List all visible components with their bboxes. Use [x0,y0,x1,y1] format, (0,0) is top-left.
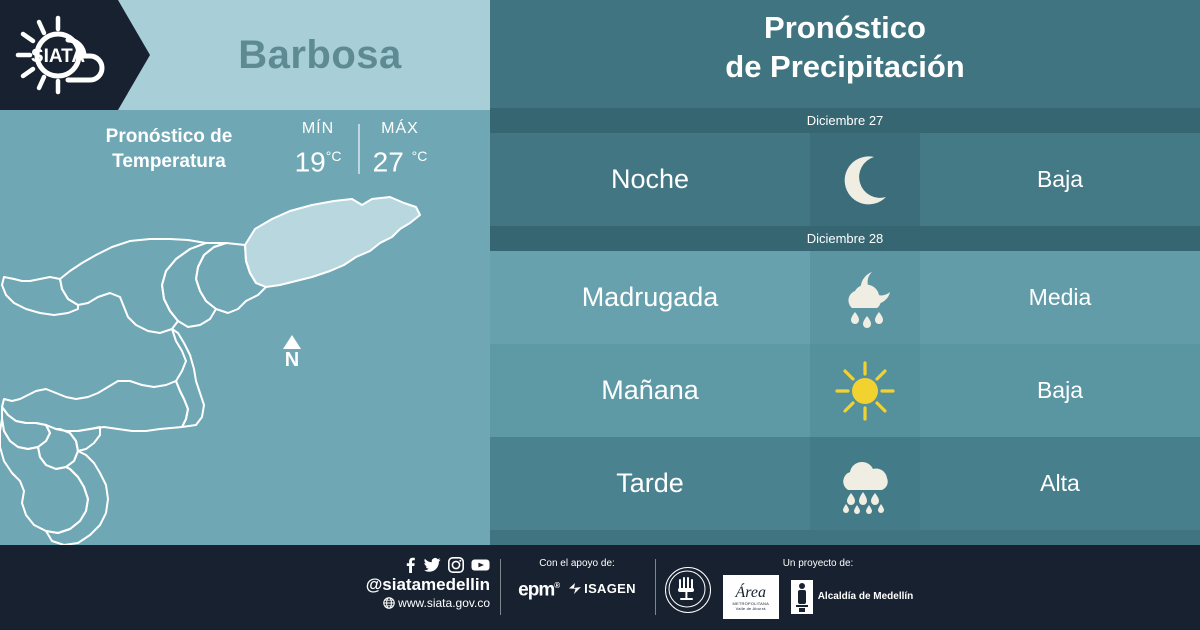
north-arrow: N [278,335,306,370]
social-handle[interactable]: @siatamedellin [330,575,490,595]
city-name: Barbosa [150,0,490,110]
seal-mark-icon [666,568,708,610]
map-region-northwest [2,277,78,315]
temperature-max-unit: °C [412,148,428,164]
project-block: Un proyecto de: Área METROPOLITANA Valle… [718,557,918,619]
siata-logo-text: SIATA [31,46,85,67]
temperature-max: MÁX 27 °C [360,118,440,178]
globe-icon [383,597,395,609]
moon-rain-cloud-icon [832,268,898,328]
temperature-values: MÍN 19°C MÁX 27 °C [278,118,440,178]
alcaldia-logo: Alcaldía de Medellín [791,580,914,614]
area-metropolitana-logo: Área METROPOLITANA Valle de Aburrá [723,575,779,619]
temperature-max-value: 27 °C [360,140,440,178]
sun-cloud-icon: SIATA [10,10,115,100]
support-caption: Con el apoyo de: [512,557,642,571]
moon-icon [834,149,896,211]
map-region-la-estrella [0,419,88,533]
forecast-level: Alta [920,437,1200,530]
alcaldia-mark-icon [791,580,813,614]
forecast-icon-cell [810,437,920,530]
map-region-bello [60,239,206,333]
alcaldia-label: Alcaldía de Medellín [818,591,914,603]
heavy-rain-cloud-icon [832,452,898,516]
project-caption: Un proyecto de: [718,557,918,571]
temperature-min-label: MÍN [278,118,358,140]
epm-logo: epm® [518,576,559,600]
area-logo-sub2: Valle de Aburrá [736,606,766,611]
date-header-2: Diciembre 28 [490,226,1200,251]
temperature-max-label: MÁX [360,118,440,140]
forecast-level: Baja [920,344,1200,437]
north-arrow-label: N [278,350,306,370]
social-block: @siatamedellin www.siata.gov.co [330,557,490,611]
isagen-label: ISAGEN [584,581,636,596]
map-region-caldas [46,451,108,545]
forecast-period: Noche [490,133,810,226]
temperature-min-unit: °C [326,148,342,164]
forecast-row: Tarde Alta [490,437,1200,530]
temperature-title: Pronóstico de Temperatura [64,124,274,174]
date-header-1: Diciembre 27 [490,108,1200,133]
youtube-icon[interactable] [471,557,490,573]
precipitation-title-line1: Pronóstico [490,8,1200,47]
forecast-period: Mañana [490,344,810,437]
instagram-icon[interactable] [448,557,464,573]
map-region-barbosa [245,197,420,287]
left-panel: SIATA Barbosa Pronóstico de Temperatura … [0,0,490,545]
forecast-level: Media [920,251,1200,344]
project-logos: Área METROPOLITANA Valle de Aburrá [718,575,918,619]
facebook-icon[interactable] [403,557,417,573]
isagen-logo: ISAGEN [568,581,636,596]
alcaldia-figure-icon [791,580,813,614]
forecast-row: Madrugada Media [490,251,1200,344]
support-logos: epm® ISAGEN [512,576,642,600]
support-block: Con el apoyo de: epm® ISAGEN [512,557,642,600]
website-line[interactable]: www.siata.gov.co [330,595,490,611]
map-svg [0,185,490,545]
footer: @siatamedellin www.siata.gov.co Con el a… [0,545,1200,630]
precipitation-title-line2: de Precipitación [490,47,1200,86]
temperature-title-line2: Temperatura [64,149,274,174]
temperature-min-value: 19°C [278,140,358,178]
precipitation-title: Pronóstico de Precipitación [490,8,1200,86]
map-region-sabaneta [56,427,100,451]
forecast-icon-cell [810,344,920,437]
forecast-icon-cell [810,133,920,226]
siata-logo-banner: SIATA [0,0,150,110]
forecast-icon-cell [810,251,920,344]
weather-forecast-poster: SIATA Barbosa Pronóstico de Temperatura … [0,0,1200,630]
sun-icon [833,359,897,423]
forecast-period: Madrugada [490,251,810,344]
forecast-level: Baja [920,133,1200,226]
area-logo-script: Área [735,584,766,601]
temperature-title-line1: Pronóstico de [64,124,274,149]
footer-divider-2 [655,559,656,615]
left-header: SIATA Barbosa [0,0,490,110]
north-arrow-triangle [283,335,301,349]
twitter-icon[interactable] [424,557,441,573]
forecast-row: Noche Baja [490,133,1200,226]
precipitation-panel: Pronóstico de Precipitación Diciembre 27… [490,0,1200,545]
forecast-row: Mañana Baja [490,344,1200,437]
universidad-nacional-seal [665,567,711,613]
temperature-min: MÍN 19°C [278,118,358,178]
isagen-mark-icon [568,582,582,595]
aburra-valley-map: N [0,185,490,545]
temperature-block: Pronóstico de Temperatura MÍN 19°C MÁX 2… [0,110,490,190]
website-url: www.siata.gov.co [398,595,490,611]
social-icons [330,557,490,573]
forecast-period: Tarde [490,437,810,530]
footer-divider-1 [500,559,501,615]
